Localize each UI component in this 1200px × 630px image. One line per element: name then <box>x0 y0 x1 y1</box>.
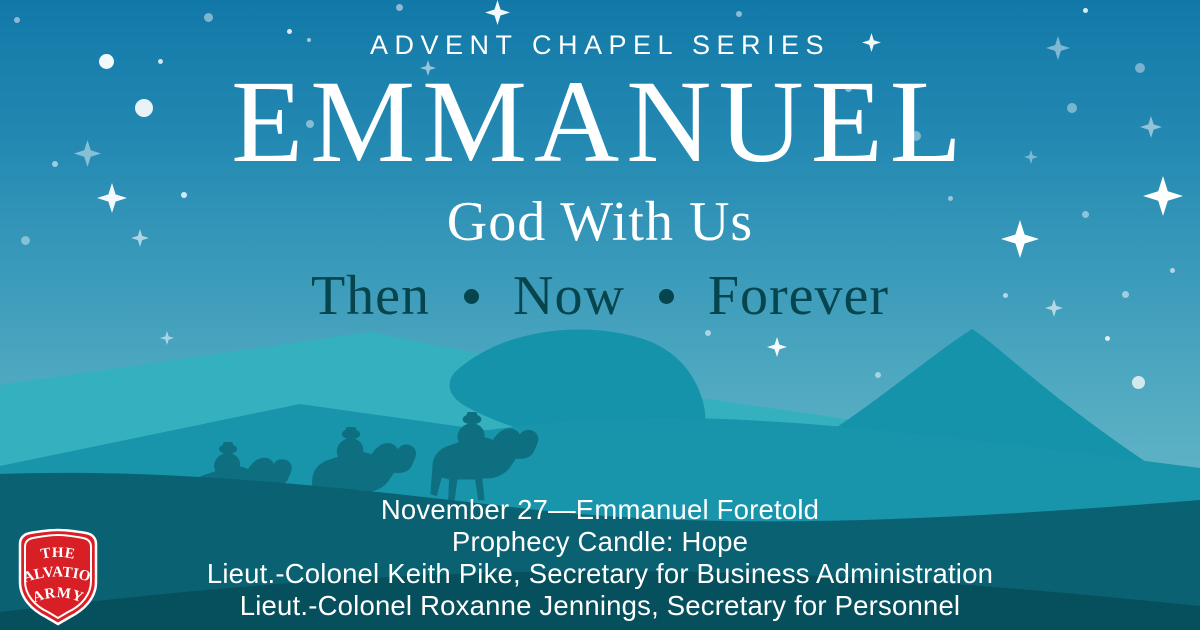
detail-line-date: November 27—Emmanuel Foretold <box>0 494 1200 526</box>
page-title: EMMANUEL <box>0 62 1200 182</box>
tagline-word-forever: Forever <box>708 264 889 328</box>
bullet-separator-icon <box>464 289 479 304</box>
advent-chapel-poster: ADVENT CHAPEL SERIES EMMANUEL God With U… <box>0 0 1200 630</box>
logo-text-the: THE <box>40 545 77 563</box>
the-salvation-army-shield-logo: THE SALVATION ARMY <box>12 528 104 626</box>
tagline: Then Now Forever <box>0 264 1200 328</box>
detail-line-speaker-2: Lieut.-Colonel Roxanne Jennings, Secreta… <box>0 590 1200 622</box>
tagline-word-now: Now <box>513 264 625 328</box>
detail-line-speaker-1: Lieut.-Colonel Keith Pike, Secretary for… <box>0 558 1200 590</box>
tagline-word-then: Then <box>311 264 430 328</box>
bullet-separator-icon <box>659 289 674 304</box>
page-subtitle: God With Us <box>0 190 1200 254</box>
event-details: November 27—Emmanuel Foretold Prophecy C… <box>0 494 1200 622</box>
detail-line-candle: Prophecy Candle: Hope <box>0 526 1200 558</box>
